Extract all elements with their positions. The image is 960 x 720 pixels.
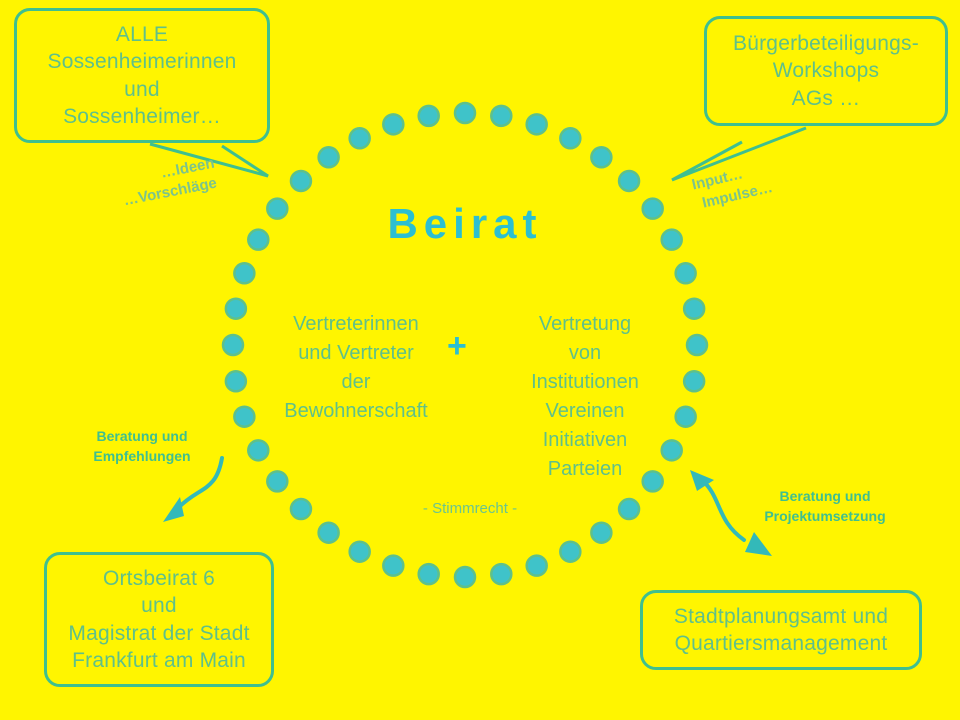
ring-dot	[291, 171, 311, 191]
note-input-impulse: Input… Impulse…	[690, 159, 775, 216]
institutions-line-5: Initiativen	[500, 426, 670, 455]
label-advisory-recommendations: Beratung und Empfehlungen	[72, 426, 212, 467]
ring-dot	[223, 335, 243, 355]
bubble-citizens-line-1: ALLE	[116, 21, 168, 48]
label-left-line-1: Beratung und	[97, 428, 188, 444]
ring-dot	[455, 567, 475, 587]
bubble-workshops-line-3: AGs …	[792, 85, 861, 112]
ring-dot	[676, 407, 696, 427]
ring-dot	[319, 147, 339, 167]
voting-rights-note: - Stimmrecht -	[385, 500, 555, 517]
box-ortsbeirat: Ortsbeirat 6 und Magistrat der Stadt Fra…	[44, 552, 274, 687]
bubble-workshops-line-2: Workshops	[773, 57, 879, 84]
institutions-line-1: Vertretung	[500, 310, 670, 339]
ortsbeirat-line-4: Frankfurt am Main	[72, 647, 246, 674]
ring-dot	[527, 114, 547, 134]
beirat-title: Beirat	[330, 200, 600, 248]
ring-dot	[234, 263, 254, 283]
ring-dot	[619, 499, 639, 519]
stadtplanungsamt-line-2: Quartiersmanagement	[675, 630, 888, 657]
bubble-citizens-line-3: und	[124, 76, 160, 103]
bubble-workshops: Bürgerbeteiligungs- Workshops AGs …	[704, 16, 948, 126]
ring-dot	[248, 230, 268, 250]
ring-dot	[267, 199, 287, 219]
ring-dot	[419, 564, 439, 584]
box-stadtplanungsamt: Stadtplanungsamt und Quartiersmanagement	[640, 590, 922, 670]
diagram-canvas: ALLE Sossenheimerinnen und Sossenheimer……	[0, 0, 960, 720]
ring-dot	[643, 199, 663, 219]
bubble-workshops-line-1: Bürgerbeteiligungs-	[733, 30, 919, 57]
ring-dot	[662, 230, 682, 250]
ring-dot	[455, 103, 475, 123]
ring-dot	[383, 114, 403, 134]
ring-dot	[560, 128, 580, 148]
ring-dot	[684, 299, 704, 319]
ring-dot	[591, 523, 611, 543]
ring-dot	[491, 564, 511, 584]
ring-dot	[560, 542, 580, 562]
label-right-line-2: Projektumsetzung	[764, 508, 885, 524]
label-advisory-project-implementation: Beratung und Projektumsetzung	[740, 486, 910, 527]
members-column-residents: Vertreterinnen und Vertreter der Bewohne…	[272, 310, 440, 426]
ring-dot	[684, 371, 704, 391]
residents-line-4: Bewohnerschaft	[272, 397, 440, 426]
ring-dot	[350, 128, 370, 148]
ring-dot	[527, 556, 547, 576]
ring-dot	[291, 499, 311, 519]
bubble-citizens: ALLE Sossenheimerinnen und Sossenheimer…	[14, 8, 270, 143]
ring-dot	[419, 106, 439, 126]
stadtplanungsamt-line-1: Stadtplanungsamt und	[674, 603, 888, 630]
plus-icon: +	[447, 329, 467, 363]
ring-dot	[591, 147, 611, 167]
residents-line-2: und Vertreter	[272, 339, 440, 368]
ortsbeirat-line-3: Magistrat der Stadt	[68, 620, 249, 647]
arrow-left-advisory	[163, 458, 222, 522]
ring-dot	[248, 440, 268, 460]
note-ideen-vorschlaege: …Ideen …Vorschläge	[118, 154, 220, 212]
ring-dot	[226, 371, 246, 391]
ring-dot	[687, 335, 707, 355]
ring-dot	[619, 171, 639, 191]
bubble-citizens-line-2: Sossenheimerinnen	[47, 48, 236, 75]
ring-dot	[491, 106, 511, 126]
ring-dot	[226, 299, 246, 319]
ring-dot	[383, 556, 403, 576]
residents-line-3: der	[272, 368, 440, 397]
ring-dot	[267, 471, 287, 491]
institutions-line-6: Parteien	[500, 455, 670, 484]
label-left-line-2: Empfehlungen	[93, 448, 190, 464]
institutions-line-2: von	[500, 339, 670, 368]
ring-dot	[234, 407, 254, 427]
ring-dot	[676, 263, 696, 283]
label-right-line-1: Beratung und	[780, 488, 871, 504]
bubble-citizens-line-4: Sossenheimer…	[63, 103, 221, 130]
ring-dot	[350, 542, 370, 562]
residents-line-1: Vertreterinnen	[272, 310, 440, 339]
ortsbeirat-line-2: und	[141, 592, 177, 619]
institutions-line-3: Institutionen	[500, 368, 670, 397]
institutions-line-4: Vereinen	[500, 397, 670, 426]
ortsbeirat-line-1: Ortsbeirat 6	[103, 565, 215, 592]
members-column-institutions: Vertretung von Institutionen Vereinen In…	[500, 310, 670, 484]
ring-dot	[319, 523, 339, 543]
